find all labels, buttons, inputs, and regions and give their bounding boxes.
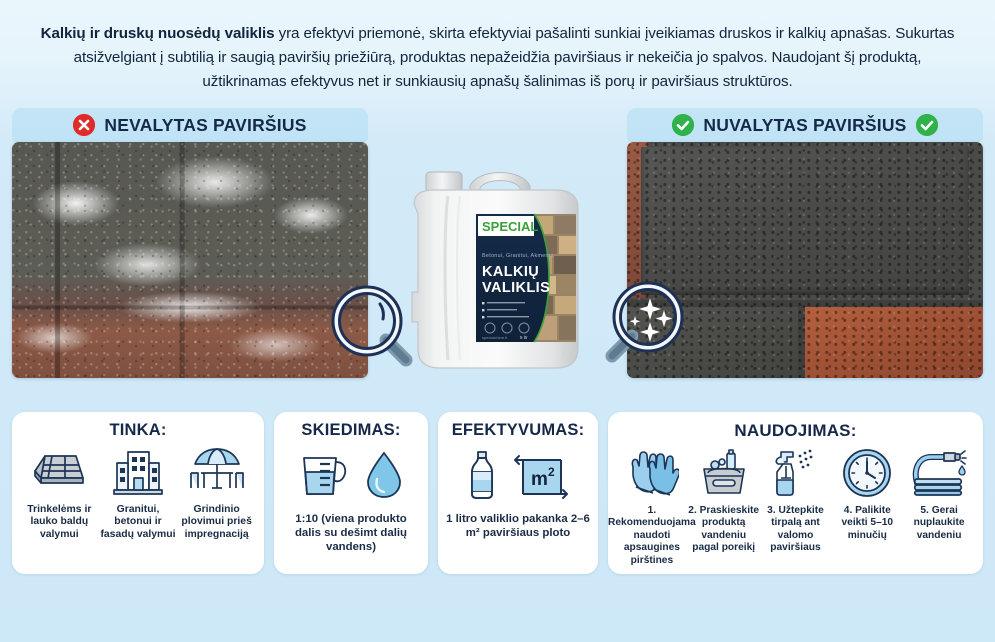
info-cards: TINKA: Trin [12, 412, 983, 574]
building-icon [112, 444, 164, 500]
naudojimas-step-4: 4. Palikite veikti 5–10 minučių [831, 445, 903, 542]
badge-after: NUVALYTAS PAVIRŠIUS [627, 108, 983, 142]
tinka-item-0-caption: Trinkelėms ir lauko baldų valymui [20, 504, 99, 541]
svg-text:KALKIŲ: KALKIŲ [482, 264, 539, 280]
tinka-item-0: Trinkelėms ir lauko baldų valymui [20, 444, 99, 541]
naudojimas-step-1-caption: 1. Rekomenduojama naudoti apsaugines pir… [608, 505, 696, 567]
card-skiedimas: SKIEDIMAS: [274, 412, 428, 574]
intro-bold-lead: Kalkių ir druskų nuosėdų valiklis [41, 25, 275, 42]
badge-before: NEVALYTAS PAVIRŠIUS [12, 108, 368, 142]
svg-text:VALIKLIS: VALIKLIS [482, 280, 550, 296]
magnifier-clean-icon [600, 278, 692, 370]
tinka-item-1-caption: Granitui, betonui ir fasadų valymui [99, 504, 178, 541]
check-icon [672, 114, 694, 136]
card-efektyvumas: EFEKTYVUMAS: [438, 412, 598, 574]
spray-bottle-icon [767, 445, 823, 501]
naudojimas-step-2: 2. Praskieskite produktą vandeniu pagal … [688, 445, 760, 555]
tinka-item-1: Granitui, betonui ir fasadų valymui [99, 444, 178, 541]
naudojimas-step-1: 1. Rekomenduojama naudoti apsaugines pir… [616, 445, 688, 567]
naudojimas-step-3-caption: 3. Užtepkite tirpalą ant valomo paviršia… [760, 505, 832, 555]
square-meter-icon: m 2 [511, 450, 569, 500]
naudojimas-step-3: 3. Užtepkite tirpalą ant valomo paviršia… [760, 445, 832, 555]
naudojimas-step-4-caption: 4. Palikite veikti 5–10 minučių [831, 505, 903, 542]
paving-slabs-icon [32, 444, 86, 500]
magnifier-dirty-icon [324, 282, 416, 374]
svg-text:Betonui, Granitui, Akmenui: Betonui, Granitui, Akmenui [482, 253, 554, 259]
water-drop-icon [364, 451, 404, 499]
badge-after-label: NUVALYTAS PAVIRŠIUS [703, 115, 906, 136]
bucket-icon [696, 445, 752, 501]
naudojimas-step-2-caption: 2. Praskieskite produktą vandeniu pagal … [688, 505, 760, 555]
infographic-root: Kalkių ir druskų nuosėdų valiklis yra ef… [0, 0, 995, 642]
card-naudojimas: NAUDOJIMAS: [608, 412, 983, 574]
card-naudojimas-title: NAUDOJIMAS: [734, 421, 856, 441]
card-skiedimas-title: SKIEDIMAS: [301, 421, 400, 440]
svg-text:5 ltr: 5 ltr [520, 335, 528, 340]
card-efektyvumas-caption: 1 litro valiklio pakanka 2–6 m² paviršia… [446, 512, 590, 540]
clock-icon [842, 445, 892, 501]
card-skiedimas-caption: 1:10 (viena produkto dalis su dešimt dal… [282, 512, 420, 554]
wall-grain-texture [12, 142, 368, 378]
tinka-item-2: Grindinio plovimui prieš impregnaciją [177, 444, 256, 541]
bottle-icon [467, 450, 497, 500]
svg-text:2: 2 [548, 465, 555, 479]
photo-dirty-wall [12, 142, 368, 378]
card-tinka: TINKA: Trin [12, 412, 264, 574]
patio-umbrella-icon [188, 444, 246, 500]
svg-text:specialchem.lt: specialchem.lt [482, 335, 508, 340]
comparison-before: NEVALYTAS PAVIRŠIUS [12, 108, 368, 378]
intro-paragraph: Kalkių ir druskų nuosėdų valiklis yra ef… [30, 22, 965, 94]
svg-text:m: m [531, 469, 548, 490]
cross-icon [73, 114, 95, 136]
check-icon-secondary [916, 114, 938, 136]
naudojimas-step-5: 5. Gerai nuplaukite vandeniu [903, 445, 975, 542]
hose-icon [911, 445, 967, 501]
badge-before-label: NEVALYTAS PAVIRŠIUS [104, 115, 306, 136]
gloves-icon [625, 445, 679, 501]
product-canister: SPECIAL C Betonui, Granitui, Akmenui KAL… [404, 152, 596, 402]
card-efektyvumas-title: EFEKTYVUMAS: [452, 421, 585, 440]
tinka-item-2-caption: Grindinio plovimui prieš impregnaciją [177, 504, 256, 541]
measuring-jug-icon [298, 452, 350, 498]
naudojimas-step-5-caption: 5. Gerai nuplaukite vandeniu [903, 505, 975, 542]
card-tinka-title: TINKA: [109, 421, 166, 440]
